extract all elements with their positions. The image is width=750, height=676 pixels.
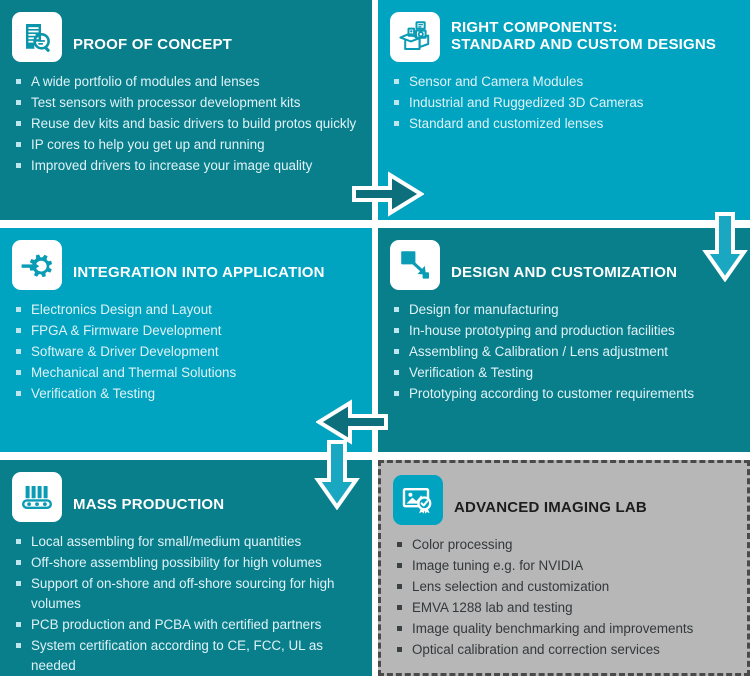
- list-item: Electronics Design and Layout: [14, 300, 358, 320]
- list-item: EMVA 1288 lab and testing: [395, 598, 733, 618]
- list-item: Verification & Testing: [14, 384, 358, 404]
- list-item: Optical calibration and correction servi…: [395, 640, 733, 660]
- list-item: FPGA & Firmware Development: [14, 321, 358, 341]
- list-item: Verification & Testing: [392, 363, 736, 383]
- panel-header: RIGHT COMPONENTS: STANDARD AND CUSTOM DE…: [378, 0, 750, 62]
- panel-title: ADVANCED IMAGING LAB: [454, 500, 647, 517]
- panel-title: MASS PRODUCTION: [73, 497, 224, 514]
- arrow-down-icon: [314, 440, 360, 510]
- list-item: Support of on-shore and off-shore sourci…: [14, 574, 358, 614]
- list-item: In-house prototyping and production faci…: [392, 321, 736, 341]
- list-item: Assembling & Calibration / Lens adjustme…: [392, 342, 736, 362]
- list-item: Improved drivers to increase your image …: [14, 156, 358, 176]
- list-item: Design for manufacturing: [392, 300, 736, 320]
- list-item: IP cores to help you get up and running: [14, 135, 358, 155]
- list-item: Reuse dev kits and basic drivers to buil…: [14, 114, 358, 134]
- arrow-right-icon: [352, 170, 424, 218]
- panel-bullet-list: Local assembling for small/medium quanti…: [0, 532, 372, 676]
- panel-bullet-list: Sensor and Camera Modules Industrial and…: [378, 72, 750, 134]
- list-item: Image quality benchmarking and improveme…: [395, 619, 733, 639]
- panel-right-components: RIGHT COMPONENTS: STANDARD AND CUSTOM DE…: [378, 0, 750, 220]
- list-item: PCB production and PCBA with certified p…: [14, 615, 358, 635]
- list-item: Software & Driver Development: [14, 342, 358, 362]
- list-item: Off-shore assembling possibility for hig…: [14, 553, 358, 573]
- gear-input-icon: [12, 240, 62, 290]
- infographic-board: PROOF OF CONCEPT A wide portfolio of mod…: [0, 0, 750, 676]
- open-box-components-icon: [390, 12, 440, 62]
- list-item: Image tuning e.g. for NVIDIA: [395, 556, 733, 576]
- conveyor-belt-icon: [12, 472, 62, 522]
- panel-bullet-list: Electronics Design and Layout FPGA & Fir…: [0, 300, 372, 404]
- panel-title: RIGHT COMPONENTS: STANDARD AND CUSTOM DE…: [451, 20, 716, 54]
- list-item: Standard and customized lenses: [392, 114, 736, 134]
- panel-header: PROOF OF CONCEPT: [0, 0, 372, 62]
- panel-bullet-list: Color processing Image tuning e.g. for N…: [381, 535, 747, 660]
- panel-header: DESIGN AND CUSTOMIZATION: [378, 228, 750, 290]
- list-item: A wide portfolio of modules and lenses: [14, 72, 358, 92]
- arrow-down-icon: [702, 212, 748, 282]
- list-item: System certification according to CE, FC…: [14, 636, 358, 676]
- panel-title-line1: RIGHT COMPONENTS:: [451, 20, 716, 37]
- panel-title: INTEGRATION INTO APPLICATION: [73, 265, 325, 282]
- list-item: Test sensors with processor development …: [14, 93, 358, 113]
- panel-bullet-list: Design for manufacturing In-house protot…: [378, 300, 750, 404]
- list-item: Local assembling for small/medium quanti…: [14, 532, 358, 552]
- panel-advanced-imaging-lab: ADVANCED IMAGING LAB Color processing Im…: [378, 460, 750, 676]
- arrow-left-icon: [316, 398, 388, 446]
- list-item: Industrial and Ruggedized 3D Cameras: [392, 93, 736, 113]
- list-item: Mechanical and Thermal Solutions: [14, 363, 358, 383]
- list-item: Sensor and Camera Modules: [392, 72, 736, 92]
- panel-title: PROOF OF CONCEPT: [73, 37, 232, 54]
- panel-header: INTEGRATION INTO APPLICATION: [0, 228, 372, 290]
- list-item: Prototyping according to customer requir…: [392, 384, 736, 404]
- image-certified-icon: [393, 475, 443, 525]
- list-item: Lens selection and customization: [395, 577, 733, 597]
- document-magnifier-icon: [12, 12, 62, 62]
- panel-title: DESIGN AND CUSTOMIZATION: [451, 265, 677, 282]
- panel-header: ADVANCED IMAGING LAB: [381, 463, 747, 525]
- panel-design-and-customization: DESIGN AND CUSTOMIZATION Design for manu…: [378, 228, 750, 452]
- resize-scale-icon: [390, 240, 440, 290]
- panel-bullet-list: A wide portfolio of modules and lenses T…: [0, 72, 372, 176]
- panel-proof-of-concept: PROOF OF CONCEPT A wide portfolio of mod…: [0, 0, 372, 220]
- panel-title-line2: STANDARD AND CUSTOM DESIGNS: [451, 37, 716, 54]
- list-item: Color processing: [395, 535, 733, 555]
